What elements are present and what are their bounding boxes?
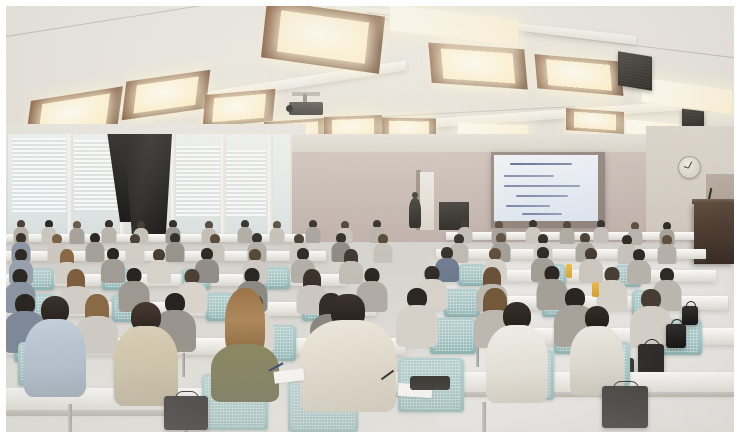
presenter (408, 192, 421, 230)
slide-body-line (504, 185, 580, 187)
floor-bag (666, 324, 686, 348)
attendee-foreground-right (302, 294, 394, 416)
drink-bottle (592, 282, 599, 297)
photograph-frame (0, 0, 740, 440)
floor-bag (682, 306, 698, 325)
front-doorway (420, 172, 434, 230)
window-mullion (221, 134, 226, 246)
ceiling-speaker-icon (618, 51, 652, 90)
ceiling-light-panel (122, 70, 211, 120)
slide-body-line (516, 195, 568, 197)
projection-screen-surface (494, 155, 598, 221)
floor-bag (638, 344, 664, 374)
lecture-hall-photograph (6, 6, 734, 432)
ceiling-light-panel (390, 6, 518, 46)
projection-screen (491, 152, 605, 228)
floor-bag (602, 386, 648, 428)
window-blind (12, 138, 66, 212)
attendee-right-side (488, 302, 546, 398)
slide-body-line (506, 205, 550, 207)
attendee-foreground-far-left (116, 302, 176, 402)
projector-icon (289, 102, 323, 115)
ceiling-light-panel (261, 6, 385, 74)
attendee-foreground-left (212, 288, 278, 398)
ceiling-light-panel (428, 43, 527, 90)
pencil-case (410, 376, 450, 390)
slide-body-line (504, 175, 554, 177)
slide-body-line (522, 213, 562, 215)
floor-bag (164, 396, 208, 430)
projector-lens-icon (286, 105, 293, 112)
window-blind (176, 146, 220, 216)
drink-bottle (566, 264, 572, 278)
slide-title-line (510, 163, 572, 165)
attendee-left-edge (26, 296, 84, 392)
ceiling-light-panel (566, 108, 624, 134)
ceiling-light-panel (535, 54, 624, 96)
wall-clock-icon (678, 156, 701, 179)
window-blind (226, 150, 266, 218)
attendee-right-side-2 (572, 306, 622, 392)
